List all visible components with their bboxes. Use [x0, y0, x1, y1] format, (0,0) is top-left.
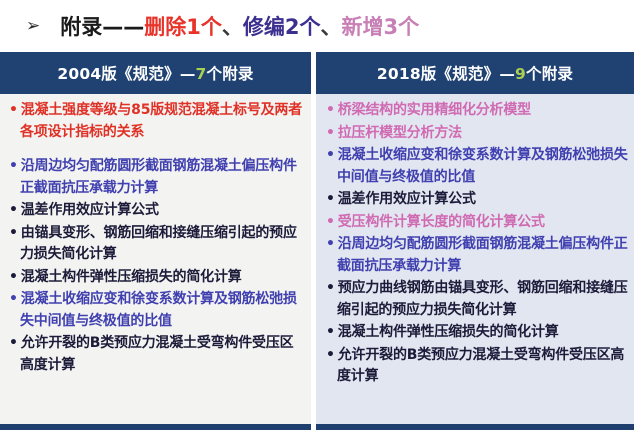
list-item-2004-3: •温差作用效应计算公式: [9, 200, 303, 222]
bullet-icon: •: [9, 269, 18, 285]
list-item-2018-2: •拉压杆模型分析方法: [326, 123, 628, 145]
arrow-bullet-icon: ➢: [26, 18, 40, 35]
list-item-label: 混凝土收缩应变和徐变系数计算及钢筋松弛损失中间值与终极值的比值: [20, 291, 297, 329]
column-body-2004: •混凝土强度等级与85版规范混凝土标号及两者各项设计指标的关系•沿周边均匀配筋圆…: [0, 94, 311, 430]
list-item-label: 受压构件计算长度的简化计算公式: [338, 214, 545, 230]
list-item-2004-1: •混凝土强度等级与85版规范混凝土标号及两者各项设计指标的关系: [9, 100, 303, 143]
list-item-label: 混凝土构件弹性压缩损失的简化计算: [21, 269, 242, 285]
list-item-2018-6: •沿周边均匀配筋圆形截面钢筋混凝土偏压构件正截面抗压承载力计算: [326, 234, 628, 277]
slide-title-row: ➢ 附录——删除1个、修编2个、新增3个: [0, 0, 634, 52]
column-header-2018: 2018版《规范》—9个附录: [316, 52, 634, 94]
list-item-label: 允许开裂的B类预应力混凝土受弯构件受压区高度计算: [337, 347, 624, 385]
table-column-2018: 2018版《规范》—9个附录 •桥梁结构的实用精细化分析模型•拉压杆模型分析方法…: [316, 52, 634, 430]
title-prefix: 附录——: [60, 15, 144, 39]
list-item-2018-1: •桥梁结构的实用精细化分析模型: [326, 100, 628, 122]
title-separator-1: 、: [222, 15, 243, 39]
title-revised: 修编2个: [243, 15, 321, 39]
header-count-right: 9: [515, 65, 526, 83]
list-item-2018-7: •预应力曲线钢筋由锚具变形、钢筋回缩和接缝压缩引起的预应力损失简化计算: [326, 278, 628, 321]
list-item-2018-3: •混凝土收缩应变和徐变系数计算及钢筋松弛损失中间值与终极值的比值: [326, 145, 628, 188]
list-item-label: 混凝土收缩应变和徐变系数计算及钢筋松弛损失中间值与终极值的比值: [337, 147, 628, 185]
list-item-label: 沿周边均匀配筋圆形截面钢筋混凝土偏压构件正截面抗压承载力计算: [337, 236, 628, 274]
bullet-icon: •: [326, 236, 335, 252]
header-version-right: 2018版《规范》: [377, 65, 499, 83]
list-item-label: 混凝土构件弹性压缩损失的简化计算: [338, 324, 559, 340]
list-item-label: 温差作用效应计算公式: [21, 202, 159, 218]
column-header-2004-text: 2004版《规范》—7个附录: [57, 62, 253, 84]
bullet-icon: •: [326, 347, 335, 363]
list-item-2004-7: •允许开裂的B类预应力混凝土受弯构件受压区高度计算: [9, 333, 303, 376]
list-item-2018-9: •允许开裂的B类预应力混凝土受弯构件受压区高度计算: [326, 345, 628, 388]
header-version-left: 2004版《规范》: [57, 65, 179, 83]
bullet-icon: •: [9, 225, 18, 241]
list-item-2018-8: •混凝土构件弹性压缩损失的简化计算: [326, 322, 628, 344]
list-item-2004-2: •沿周边均匀配筋圆形截面钢筋混凝土偏压构件正截面抗压承载力计算: [9, 156, 303, 199]
bullet-icon: •: [326, 280, 335, 296]
bullet-icon: •: [326, 214, 335, 230]
bullet-icon: •: [326, 125, 335, 141]
list-item-2018-4: •温差作用效应计算公式: [326, 189, 628, 211]
list-item-label: 拉压杆模型分析方法: [338, 125, 462, 141]
list-item-label: 允许开裂的B类预应力混凝土受弯构件受压区高度计算: [20, 335, 293, 373]
header-suffix-left: 个附录: [207, 65, 254, 83]
title-separator-2: 、: [321, 15, 342, 39]
bullet-icon: •: [326, 102, 335, 118]
comparison-table: 2004版《规范》—7个附录 •混凝土强度等级与85版规范混凝土标号及两者各项设…: [0, 52, 634, 430]
list-item-label: 温差作用效应计算公式: [338, 191, 476, 207]
bottom-accent-bar: [0, 424, 634, 430]
bullet-icon: •: [326, 147, 335, 163]
list-item-label: 混凝土强度等级与85版规范混凝土标号及两者各项设计指标的关系: [20, 102, 302, 140]
list-item-label: 桥梁结构的实用精细化分析模型: [338, 102, 531, 118]
header-count-left: 7: [196, 65, 207, 83]
bottom-bar-left-segment: [0, 424, 311, 430]
list-item-label: 沿周边均匀配筋圆形截面钢筋混凝土偏压构件正截面抗压承载力计算: [20, 158, 297, 196]
bullet-icon: •: [9, 202, 18, 218]
list-item-2004-4: •由锚具变形、钢筋回缩和接缝压缩引起的预应力损失简化计算: [9, 223, 303, 266]
title-added: 新增3个: [342, 15, 420, 39]
slide-root: ➢ 附录——删除1个、修编2个、新增3个 2004版《规范》—7个附录 •混凝土…: [0, 0, 634, 430]
bullet-icon: •: [9, 335, 18, 351]
page-title: 附录——删除1个、修编2个、新增3个: [60, 11, 419, 41]
bullet-icon: •: [9, 158, 18, 174]
header-dash-right: —: [499, 65, 515, 83]
list-item-2004-6: •混凝土收缩应变和徐变系数计算及钢筋松弛损失中间值与终极值的比值: [9, 289, 303, 332]
header-dash-left: —: [180, 65, 196, 83]
table-column-2004: 2004版《规范》—7个附录 •混凝土强度等级与85版规范混凝土标号及两者各项设…: [0, 52, 311, 430]
list-item-2018-5: •受压构件计算长度的简化计算公式: [326, 212, 628, 234]
column-header-2018-text: 2018版《规范》—9个附录: [377, 62, 573, 84]
list-item-2004-5: •混凝土构件弹性压缩损失的简化计算: [9, 267, 303, 289]
column-header-2004: 2004版《规范》—7个附录: [0, 52, 311, 94]
header-suffix-right: 个附录: [526, 65, 573, 83]
bullet-icon: •: [326, 324, 335, 340]
bullet-icon: •: [9, 102, 18, 118]
bullet-icon: •: [9, 291, 18, 307]
list-item-label: 预应力曲线钢筋由锚具变形、钢筋回缩和接缝压缩引起的预应力损失简化计算: [337, 280, 628, 318]
column-body-2018: •桥梁结构的实用精细化分析模型•拉压杆模型分析方法•混凝土收缩应变和徐变系数计算…: [316, 94, 634, 430]
title-deleted: 删除1个: [144, 15, 222, 39]
bottom-bar-right-segment: [316, 424, 634, 430]
bullet-icon: •: [326, 191, 335, 207]
list-item-label: 由锚具变形、钢筋回缩和接缝压缩引起的预应力损失简化计算: [20, 225, 297, 263]
